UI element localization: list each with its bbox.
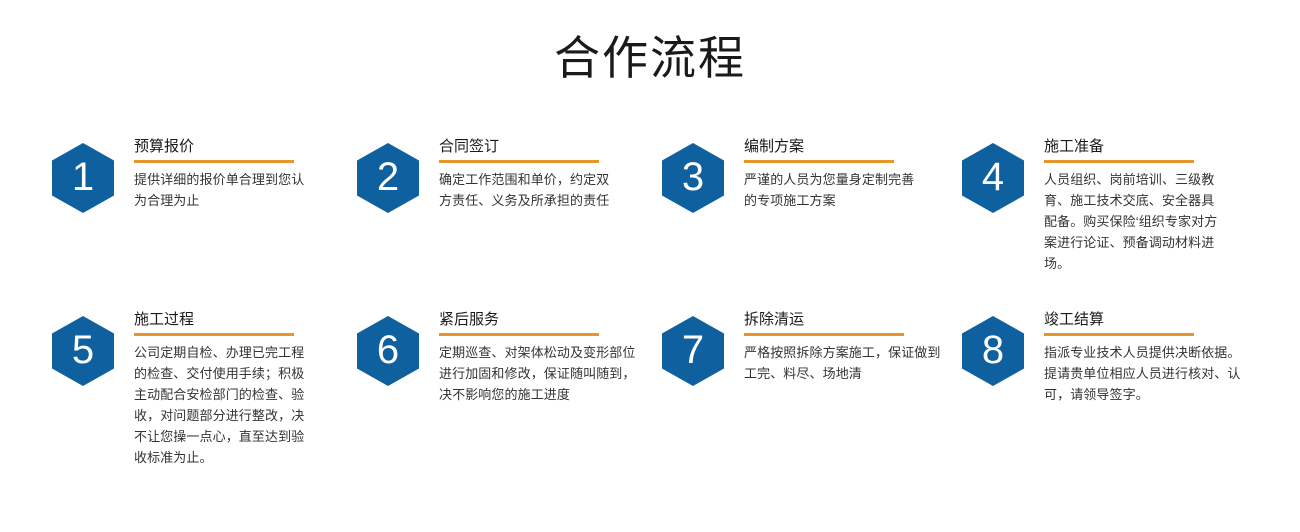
step-number: 4: [982, 157, 1004, 197]
title-underline-rule: [744, 333, 904, 336]
step-6-badge: 6: [357, 316, 419, 386]
process-step-4: 4 施工准备 人员组织、岗前培训、三级教育、施工技术交底、安全器具配备。购买保险…: [962, 137, 1262, 274]
cooperation-process-page: 合作流程 1 预算报价 提供详细的报价单合理到您认为合理为止 2: [0, 0, 1300, 532]
title-underline-rule: [134, 160, 294, 163]
step-title: 竣工结算: [1044, 310, 1262, 333]
step-8-badge: 8: [962, 316, 1024, 386]
step-2-badge: 2: [357, 143, 419, 213]
step-title: 施工过程: [134, 310, 357, 333]
step-description: 提供详细的报价单合理到您认为合理为止: [134, 169, 316, 211]
hexagon-icon: 6: [357, 316, 419, 386]
step-title: 拆除清运: [744, 310, 962, 333]
step-description: 严谨的人员为您量身定制完善的专项施工方案: [744, 169, 926, 211]
step-6-body: 紧后服务 定期巡查、对架体松动及变形部位进行加固和修改，保证随叫随到，决不影响您…: [419, 310, 662, 405]
step-5-body: 施工过程 公司定期自检、办理已完工程的检查、交付使用手续；积极主动配合安检部门的…: [114, 310, 357, 468]
step-number: 8: [982, 330, 1004, 370]
step-1-body: 预算报价 提供详细的报价单合理到您认为合理为止: [114, 137, 357, 211]
step-5-badge: 5: [52, 316, 114, 386]
step-title: 预算报价: [134, 137, 357, 160]
process-step-7: 7 拆除清运 严格按照拆除方案施工，保证做到工完、料尽、场地清: [662, 310, 962, 468]
title-underline-rule: [744, 160, 894, 163]
hexagon-icon: 2: [357, 143, 419, 213]
step-description: 公司定期自检、办理已完工程的检查、交付使用手续；积极主动配合安检部门的检查、验收…: [134, 342, 316, 468]
hexagon-icon: 5: [52, 316, 114, 386]
step-4-badge: 4: [962, 143, 1024, 213]
step-title: 施工准备: [1044, 137, 1262, 160]
process-step-3: 3 编制方案 严谨的人员为您量身定制完善的专项施工方案: [662, 137, 962, 274]
process-step-5: 5 施工过程 公司定期自检、办理已完工程的检查、交付使用手续；积极主动配合安检部…: [52, 310, 357, 468]
step-number: 7: [682, 330, 704, 370]
title-underline-rule: [439, 160, 599, 163]
step-description: 指派专业技术人员提供决断依据。提请贵单位相应人员进行核对、认可，请领导签字。: [1044, 342, 1242, 405]
step-number: 5: [72, 330, 94, 370]
title-underline-rule: [439, 333, 599, 336]
step-title: 合同签订: [439, 137, 662, 160]
process-step-6: 6 紧后服务 定期巡查、对架体松动及变形部位进行加固和修改，保证随叫随到，决不影…: [357, 310, 662, 468]
step-description: 定期巡查、对架体松动及变形部位进行加固和修改，保证随叫随到，决不影响您的施工进度: [439, 342, 637, 405]
step-title: 紧后服务: [439, 310, 662, 333]
process-step-8: 8 竣工结算 指派专业技术人员提供决断依据。提请贵单位相应人员进行核对、认可，请…: [962, 310, 1262, 468]
hexagon-icon: 7: [662, 316, 724, 386]
step-7-badge: 7: [662, 316, 724, 386]
step-number: 3: [682, 157, 704, 197]
step-number: 1: [72, 157, 94, 197]
hexagon-icon: 3: [662, 143, 724, 213]
step-8-body: 竣工结算 指派专业技术人员提供决断依据。提请贵单位相应人员进行核对、认可，请领导…: [1024, 310, 1262, 405]
hexagon-icon: 4: [962, 143, 1024, 213]
process-steps-grid: 1 预算报价 提供详细的报价单合理到您认为合理为止 2 合同签订 确定工作范围和…: [52, 137, 1300, 468]
step-description: 确定工作范围和单价，约定双方责任、义务及所承担的责任: [439, 169, 621, 211]
step-7-body: 拆除清运 严格按照拆除方案施工，保证做到工完、料尽、场地清: [724, 310, 962, 384]
hexagon-icon: 8: [962, 316, 1024, 386]
title-underline-rule: [134, 333, 294, 336]
step-3-badge: 3: [662, 143, 724, 213]
step-description: 严格按照拆除方案施工，保证做到工完、料尽、场地清: [744, 342, 942, 384]
step-number: 6: [377, 330, 399, 370]
process-step-1: 1 预算报价 提供详细的报价单合理到您认为合理为止: [52, 137, 357, 274]
step-description: 人员组织、岗前培训、三级教育、施工技术交底、安全器具配备。购买保险‘组织专家对方…: [1044, 169, 1226, 274]
step-number: 2: [377, 157, 399, 197]
title-underline-rule: [1044, 160, 1194, 163]
step-2-body: 合同签订 确定工作范围和单价，约定双方责任、义务及所承担的责任: [419, 137, 662, 211]
hexagon-icon: 1: [52, 143, 114, 213]
process-step-2: 2 合同签订 确定工作范围和单价，约定双方责任、义务及所承担的责任: [357, 137, 662, 274]
step-1-badge: 1: [52, 143, 114, 213]
title-underline-rule: [1044, 333, 1194, 336]
step-title: 编制方案: [744, 137, 962, 160]
page-title: 合作流程: [0, 28, 1300, 88]
step-4-body: 施工准备 人员组织、岗前培训、三级教育、施工技术交底、安全器具配备。购买保险‘组…: [1024, 137, 1262, 274]
step-3-body: 编制方案 严谨的人员为您量身定制完善的专项施工方案: [724, 137, 962, 211]
